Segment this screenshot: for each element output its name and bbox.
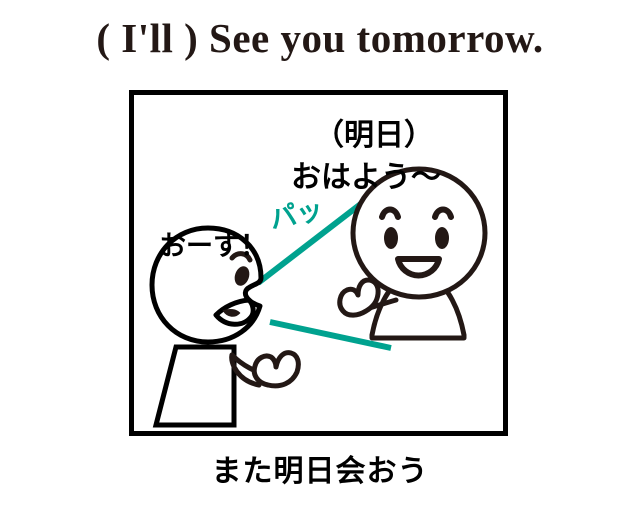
page-root: ( I'll ) See you tomorrow. [0,0,640,516]
effect-sound-text: パッ [267,194,326,236]
right-speech-line-2: おはよう〜 [291,160,441,195]
left-character-hand [254,353,298,386]
left-character-body [156,347,234,425]
right-speech-line-1: （明日） [314,118,434,153]
right-character-mouth [398,259,439,275]
comic-illustration: （明日） おはよう〜 おーす！ パッ [134,95,503,431]
right-character-eye-left [384,227,398,249]
right-character-hand [340,280,378,315]
caption-text: また明日会おう [0,446,640,490]
left-speech-text: おーす！ [159,231,267,262]
right-character-eye-right [435,227,449,249]
page-title: ( I'll ) See you tomorrow. [0,14,640,62]
comic-panel-frame: （明日） おはよう〜 おーす！ パッ [129,90,508,436]
